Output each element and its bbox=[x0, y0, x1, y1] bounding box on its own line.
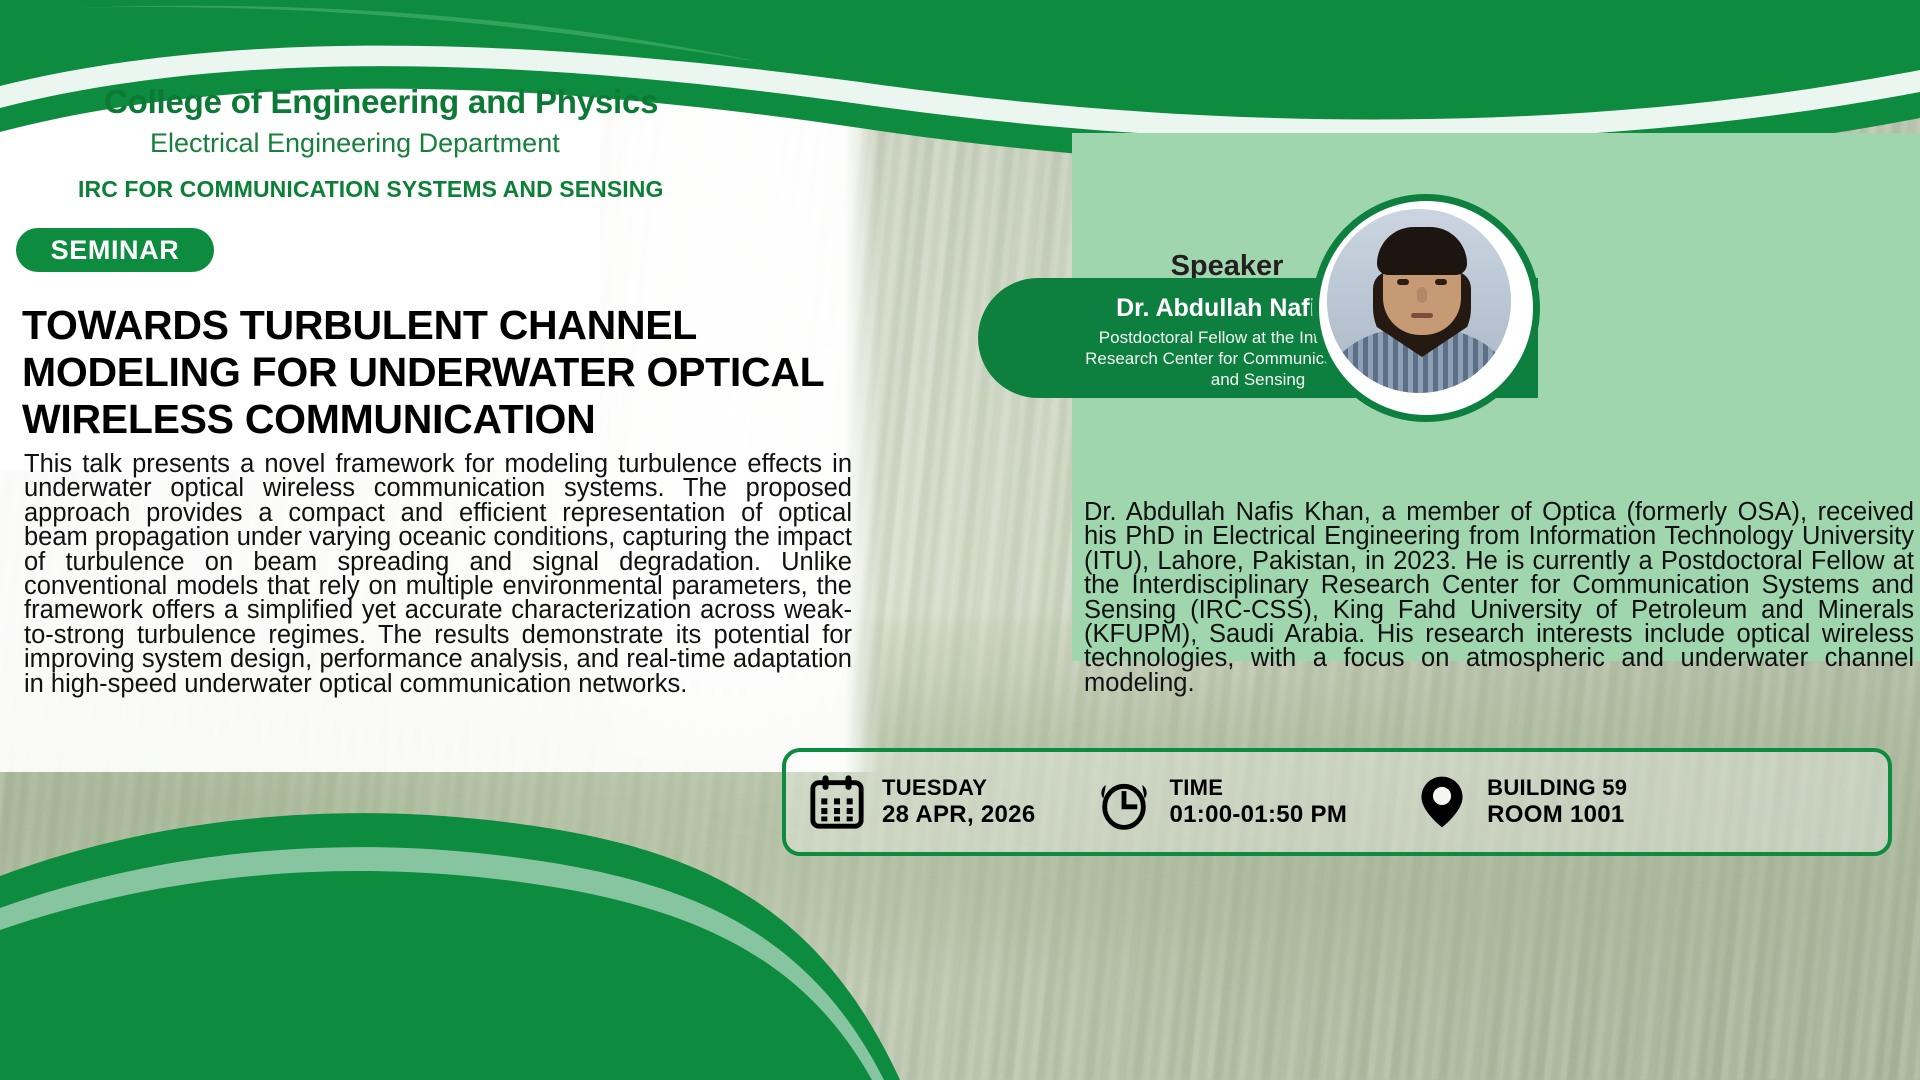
event-time-value: 01:00-01:50 PM bbox=[1169, 800, 1347, 829]
alarm-clock-icon bbox=[1095, 773, 1153, 831]
seminar-badge: SEMINAR bbox=[16, 228, 214, 272]
event-day: TUESDAY bbox=[882, 775, 1035, 800]
event-location-item: BUILDING 59 ROOM 1001 bbox=[1413, 773, 1627, 831]
portrait-brow-left bbox=[1394, 269, 1412, 274]
portrait-mouth bbox=[1411, 313, 1433, 318]
event-date: 28 APR, 2026 bbox=[882, 800, 1035, 829]
event-time-item: TIME 01:00-01:50 PM bbox=[1095, 773, 1347, 831]
title-line-2: MODELING FOR UNDERWATER OPTICAL bbox=[22, 349, 862, 396]
seminar-poster: College of Engineering and Physics Elect… bbox=[0, 0, 1920, 1080]
event-date-item: TUESDAY 28 APR, 2026 bbox=[808, 773, 1035, 831]
title-line-1: TOWARDS TURBULENT CHANNEL bbox=[22, 302, 862, 349]
college-title: College of Engineering and Physics bbox=[104, 83, 658, 121]
event-building: BUILDING 59 bbox=[1487, 775, 1627, 800]
portrait-eye-left bbox=[1397, 279, 1409, 285]
calendar-icon bbox=[808, 773, 866, 831]
research-center-title: IRC FOR COMMUNICATION SYSTEMS AND SENSIN… bbox=[78, 176, 664, 203]
speaker-portrait-image bbox=[1327, 209, 1511, 393]
event-details-bar: TUESDAY 28 APR, 2026 TIME 01:00-01:50 PM bbox=[782, 748, 1892, 856]
portrait-nose bbox=[1417, 287, 1427, 303]
seminar-badge-label: SEMINAR bbox=[51, 235, 180, 266]
event-location-text: BUILDING 59 ROOM 1001 bbox=[1487, 775, 1627, 829]
portrait-eye-right bbox=[1435, 279, 1447, 285]
avatar bbox=[1312, 194, 1540, 422]
event-time-text: TIME 01:00-01:50 PM bbox=[1169, 775, 1347, 829]
department-title: Electrical Engineering Department bbox=[150, 128, 560, 159]
event-time-label: TIME bbox=[1169, 775, 1347, 800]
portrait-brow-right bbox=[1432, 269, 1450, 274]
event-room: ROOM 1001 bbox=[1487, 800, 1627, 829]
map-pin-icon bbox=[1413, 773, 1471, 831]
speaker-bio: Dr. Abdullah Nafis Khan, a member of Opt… bbox=[1084, 500, 1914, 695]
title-line-3: WIRELESS COMMUNICATION bbox=[22, 396, 862, 443]
talk-abstract: This talk presents a novel framework for… bbox=[24, 452, 852, 696]
page-title: TOWARDS TURBULENT CHANNEL MODELING FOR U… bbox=[22, 302, 862, 443]
event-date-text: TUESDAY 28 APR, 2026 bbox=[882, 775, 1035, 829]
